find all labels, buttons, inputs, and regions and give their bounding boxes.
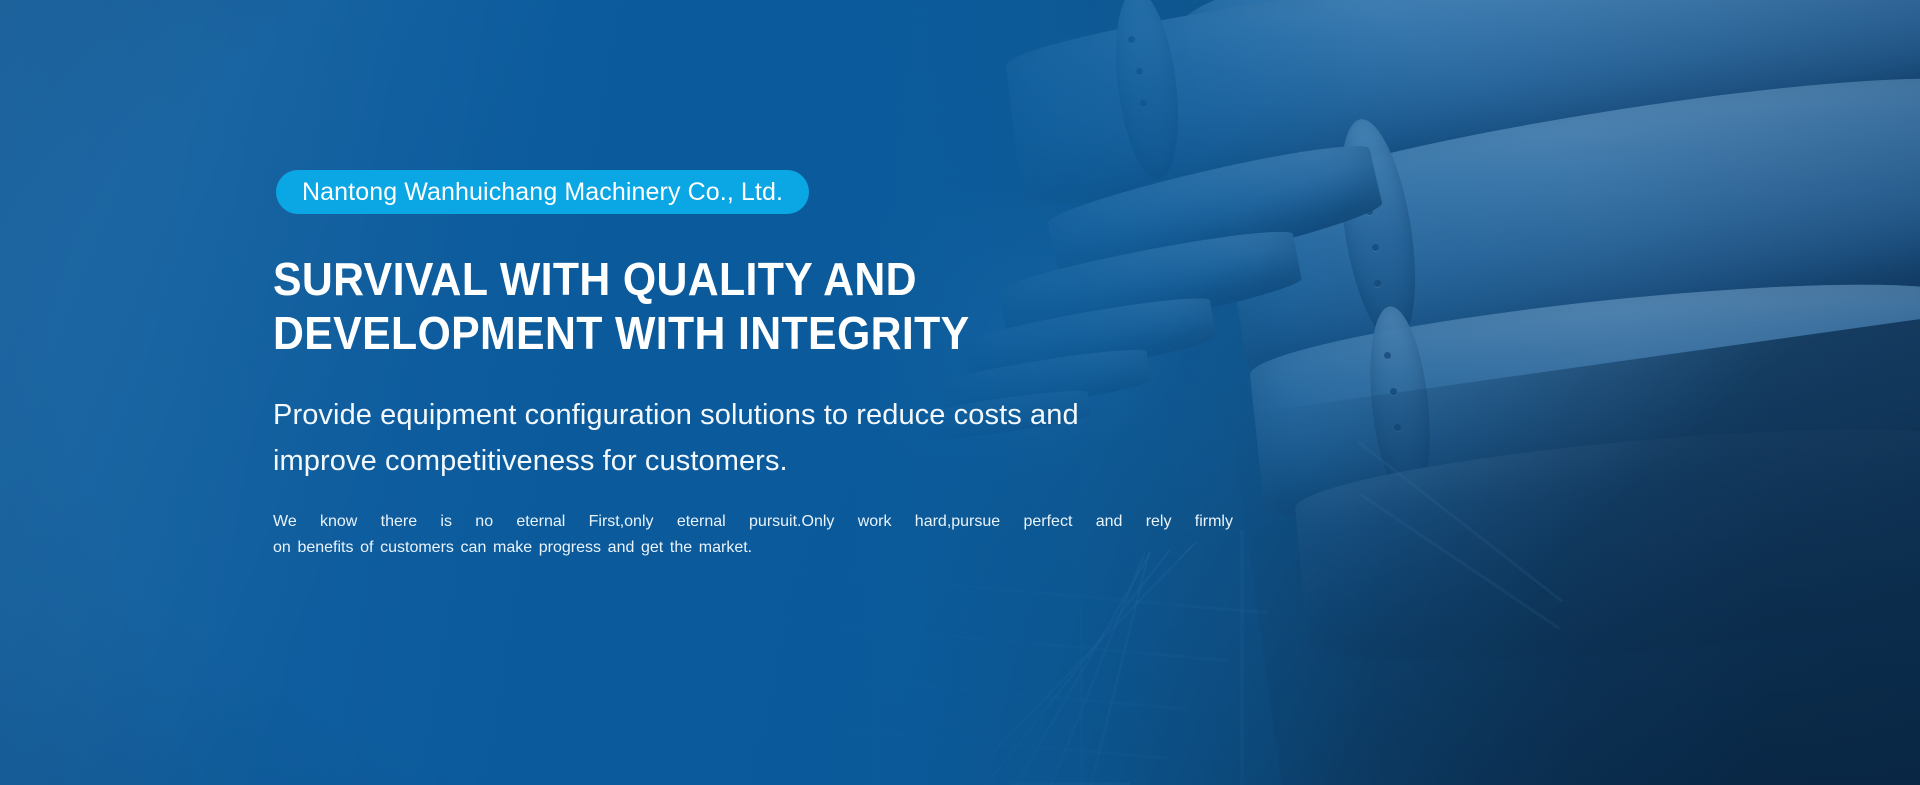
hero-description: We know there is no eternal First,only e…	[273, 509, 1233, 561]
hero-banner: Nantong Wanhuichang Machinery Co., Ltd. …	[0, 0, 1920, 785]
hero-subtitle: Provide equipment configuration solution…	[273, 393, 1079, 485]
hero-description-line-1: We know there is no eternal First,only e…	[273, 509, 1233, 535]
hero-headline: SURVIVAL WITH QUALITY AND DEVELOPMENT WI…	[273, 252, 970, 361]
hero-description-line-2: on benefits of customers can make progre…	[273, 535, 1233, 561]
company-name-badge: Nantong Wanhuichang Machinery Co., Ltd.	[276, 170, 809, 214]
hero-content: Nantong Wanhuichang Machinery Co., Ltd. …	[273, 0, 1373, 785]
